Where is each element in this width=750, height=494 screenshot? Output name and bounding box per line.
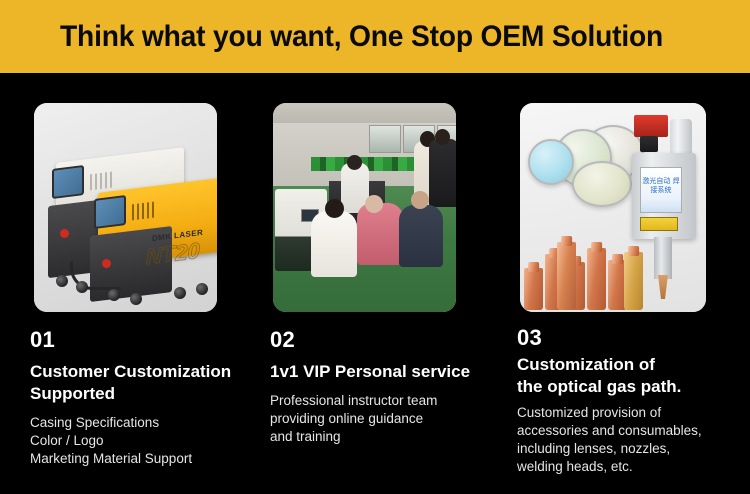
white-machine-screen [52, 165, 84, 199]
caster-wheel [130, 293, 142, 305]
feature-image-3: 激光自动 焊接系统 [520, 103, 706, 312]
feature-body-1: Casing Specifications Color / Logo Marke… [30, 414, 252, 468]
caster-wheel [76, 281, 88, 293]
crouching-person-white [311, 211, 357, 277]
caster-wheel [56, 275, 68, 287]
standing-visitor-dark [429, 139, 456, 207]
white-machine-knob [60, 229, 69, 238]
white-machine-vent [90, 172, 112, 191]
header-banner: Think what you want, One Stop OEM Soluti… [0, 0, 750, 73]
feature-body-3: Customized provision of accessories and … [517, 404, 745, 476]
laser-warning-label [640, 217, 678, 231]
person-head [411, 191, 429, 209]
camera-module [634, 115, 668, 137]
feature-image-1: DMK LASER NT20 [34, 103, 217, 312]
window [369, 125, 401, 153]
feature-column-3: 激光自动 焊接系统 03 Customization of the optica… [498, 73, 750, 494]
laser-machines-illustration: DMK LASER NT20 [34, 103, 217, 312]
promo-banner-page: Think what you want, One Stop OEM Soluti… [0, 0, 750, 494]
feature-number-1: 01 [30, 327, 252, 353]
feature-number-3: 03 [517, 325, 745, 351]
person-head [347, 155, 362, 170]
camera-lens [640, 136, 658, 152]
feature-body-2: Professional instructor team providing o… [270, 392, 492, 446]
optics-and-nozzles-illustration: 激光自动 焊接系统 [520, 103, 706, 312]
caster-wheel [196, 283, 208, 295]
nozzle-tip [658, 275, 668, 299]
feature-column-1: DMK LASER NT20 01 Customer Customization… [0, 73, 250, 494]
workshop-training-illustration [273, 103, 456, 312]
feature-columns: DMK LASER NT20 01 Customer Customization… [0, 73, 750, 494]
person-head [435, 129, 450, 145]
copper-nozzle [557, 242, 576, 310]
banner-title: Think what you want, One Stop OEM Soluti… [60, 20, 663, 54]
caster-wheel [108, 289, 120, 301]
laser-welding-head: 激光自动 焊接系统 [628, 111, 700, 307]
optical-lens [572, 161, 632, 207]
feature-heading-2: 1v1 VIP Personal service [270, 361, 492, 383]
person-head [325, 199, 344, 218]
feature-heading-1: Customer Customization Supported [30, 361, 252, 405]
caster-wheel [174, 287, 186, 299]
yellow-machine-screen [94, 195, 126, 229]
person-head [365, 195, 383, 213]
feature-text-2: 02 1v1 VIP Personal service Professional… [270, 327, 492, 446]
head-panel-label: 激光自动 焊接系统 [641, 177, 681, 195]
head-snout [654, 237, 672, 279]
copper-nozzle [524, 268, 543, 310]
feature-heading-3: Customization of the optical gas path. [517, 354, 745, 398]
head-display-panel: 激光自动 焊接系统 [640, 167, 682, 213]
copper-nozzle-group [524, 218, 644, 310]
feature-text-3: 03 Customization of the optical gas path… [517, 325, 745, 476]
yellow-machine-vent [132, 202, 154, 221]
feature-number-2: 02 [270, 327, 492, 353]
feature-column-2: 02 1v1 VIP Personal service Professional… [250, 73, 498, 494]
feature-image-2 [273, 103, 456, 312]
crouching-person-pink [357, 203, 403, 265]
feature-text-1: 01 Customer Customization Supported Casi… [30, 327, 252, 468]
optical-lens [528, 139, 574, 185]
copper-nozzle [587, 248, 606, 310]
crouching-person-navy [399, 205, 443, 267]
machine-model-label: NT20 [146, 238, 200, 271]
